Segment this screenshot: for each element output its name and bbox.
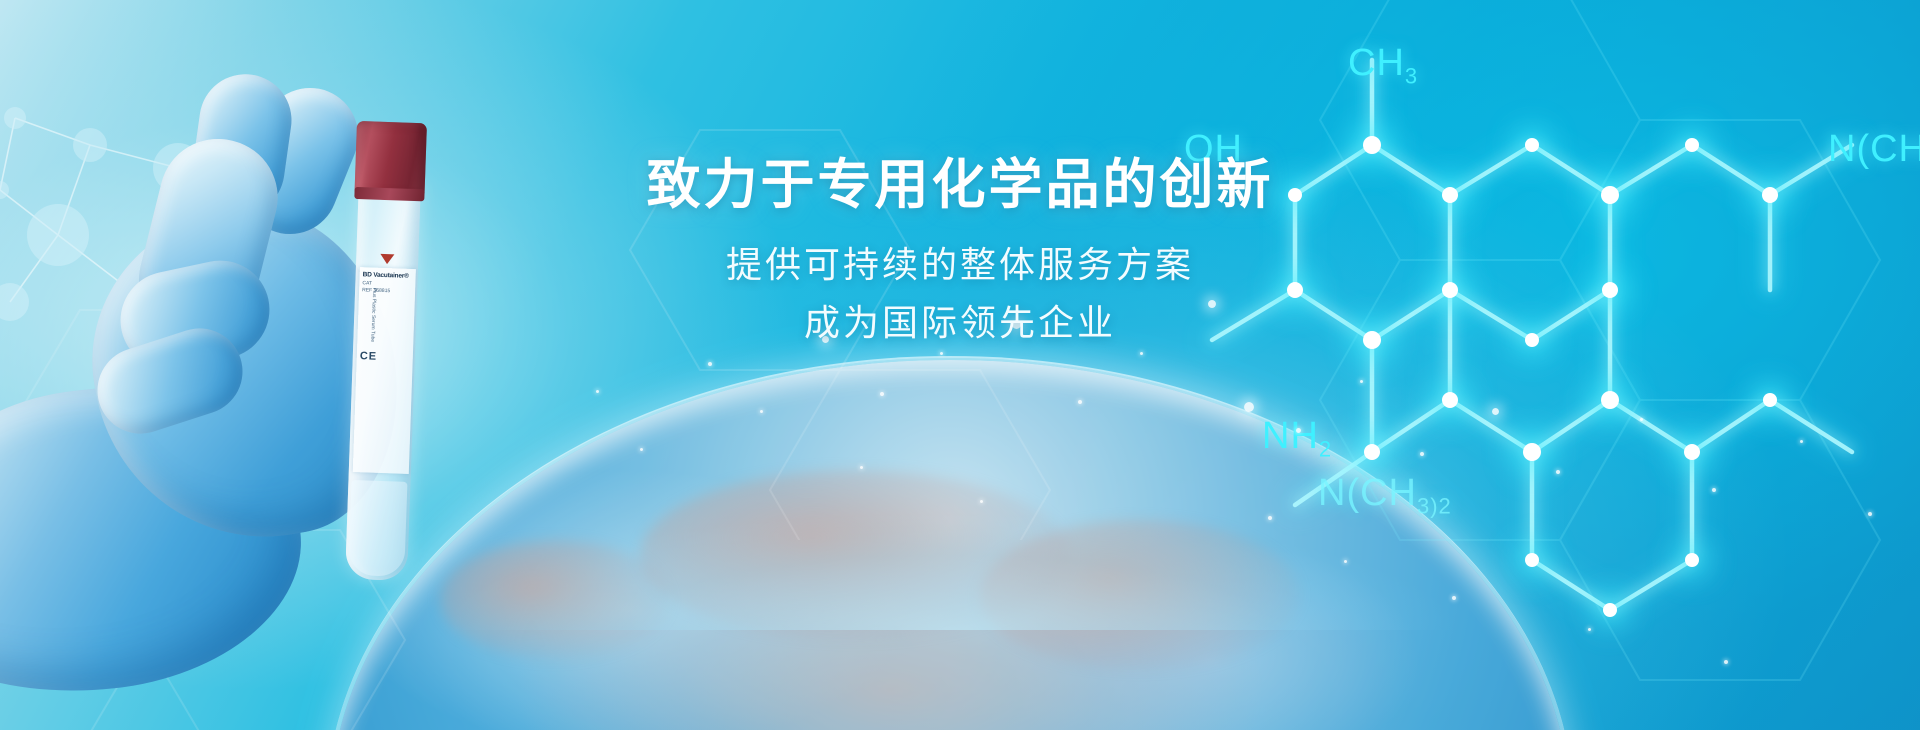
bokeh-particle — [640, 448, 643, 451]
amino-group-label: NH2 — [1262, 415, 1332, 463]
bokeh-particle — [1140, 352, 1143, 355]
tube-ce-mark: CE — [360, 349, 410, 366]
bokeh-particle — [1012, 320, 1021, 329]
hydroxyl-group-label: OH — [1184, 128, 1243, 171]
methyl-group-label: CH3 — [1348, 42, 1418, 90]
dimethylamino-group-label-top: N(CH — [1828, 128, 1920, 171]
bokeh-particle — [1556, 470, 1560, 474]
bokeh-particle — [860, 466, 863, 469]
hexagon-watermark-center — [560, 120, 1120, 540]
tube-liquid — [348, 480, 407, 577]
bokeh-particle — [1078, 400, 1082, 404]
dimethylamino-group-label-bottom: N(CH3)2 — [1318, 472, 1452, 520]
bokeh-particle — [1800, 440, 1803, 443]
bokeh-particle — [1208, 300, 1216, 308]
bokeh-particle — [1640, 418, 1643, 421]
molecule-lattice-right — [1140, 0, 1920, 730]
bokeh-particle — [1452, 596, 1456, 600]
tube-fill-arrow-icon — [380, 254, 394, 264]
bokeh-particle — [1588, 628, 1591, 631]
hero-banner: CH3 OH N(CH NH2 N(CH3)2 BD Vacutainer® C… — [0, 0, 1920, 730]
bokeh-particle — [1724, 660, 1728, 664]
bokeh-particle — [980, 500, 983, 503]
tube-cap — [354, 121, 427, 197]
bokeh-particle — [1868, 512, 1872, 516]
bokeh-particle — [1712, 488, 1716, 492]
bokeh-particle — [822, 336, 829, 343]
bokeh-particle — [1492, 408, 1499, 415]
bokeh-particle — [1344, 560, 1347, 563]
blood-collection-tube: BD Vacutainer® CAT REF 368815 CE Plus Pl… — [345, 179, 421, 581]
bokeh-particle — [760, 410, 763, 413]
tube-ref-text: REF 368815 — [362, 287, 412, 295]
bokeh-particle — [708, 362, 712, 366]
bokeh-particle — [596, 390, 599, 393]
bokeh-particle — [1420, 452, 1424, 456]
gloved-hand-with-tube: BD Vacutainer® CAT REF 368815 CE Plus Pl… — [0, 60, 470, 730]
bokeh-particle — [1296, 428, 1301, 433]
bokeh-particle — [940, 352, 943, 355]
bokeh-particle — [1360, 380, 1363, 383]
bokeh-particle — [1268, 516, 1272, 520]
tube-label: BD Vacutainer® CAT REF 368815 CE — [353, 267, 416, 474]
bokeh-particle — [880, 392, 884, 396]
bokeh-particle — [1244, 402, 1254, 412]
